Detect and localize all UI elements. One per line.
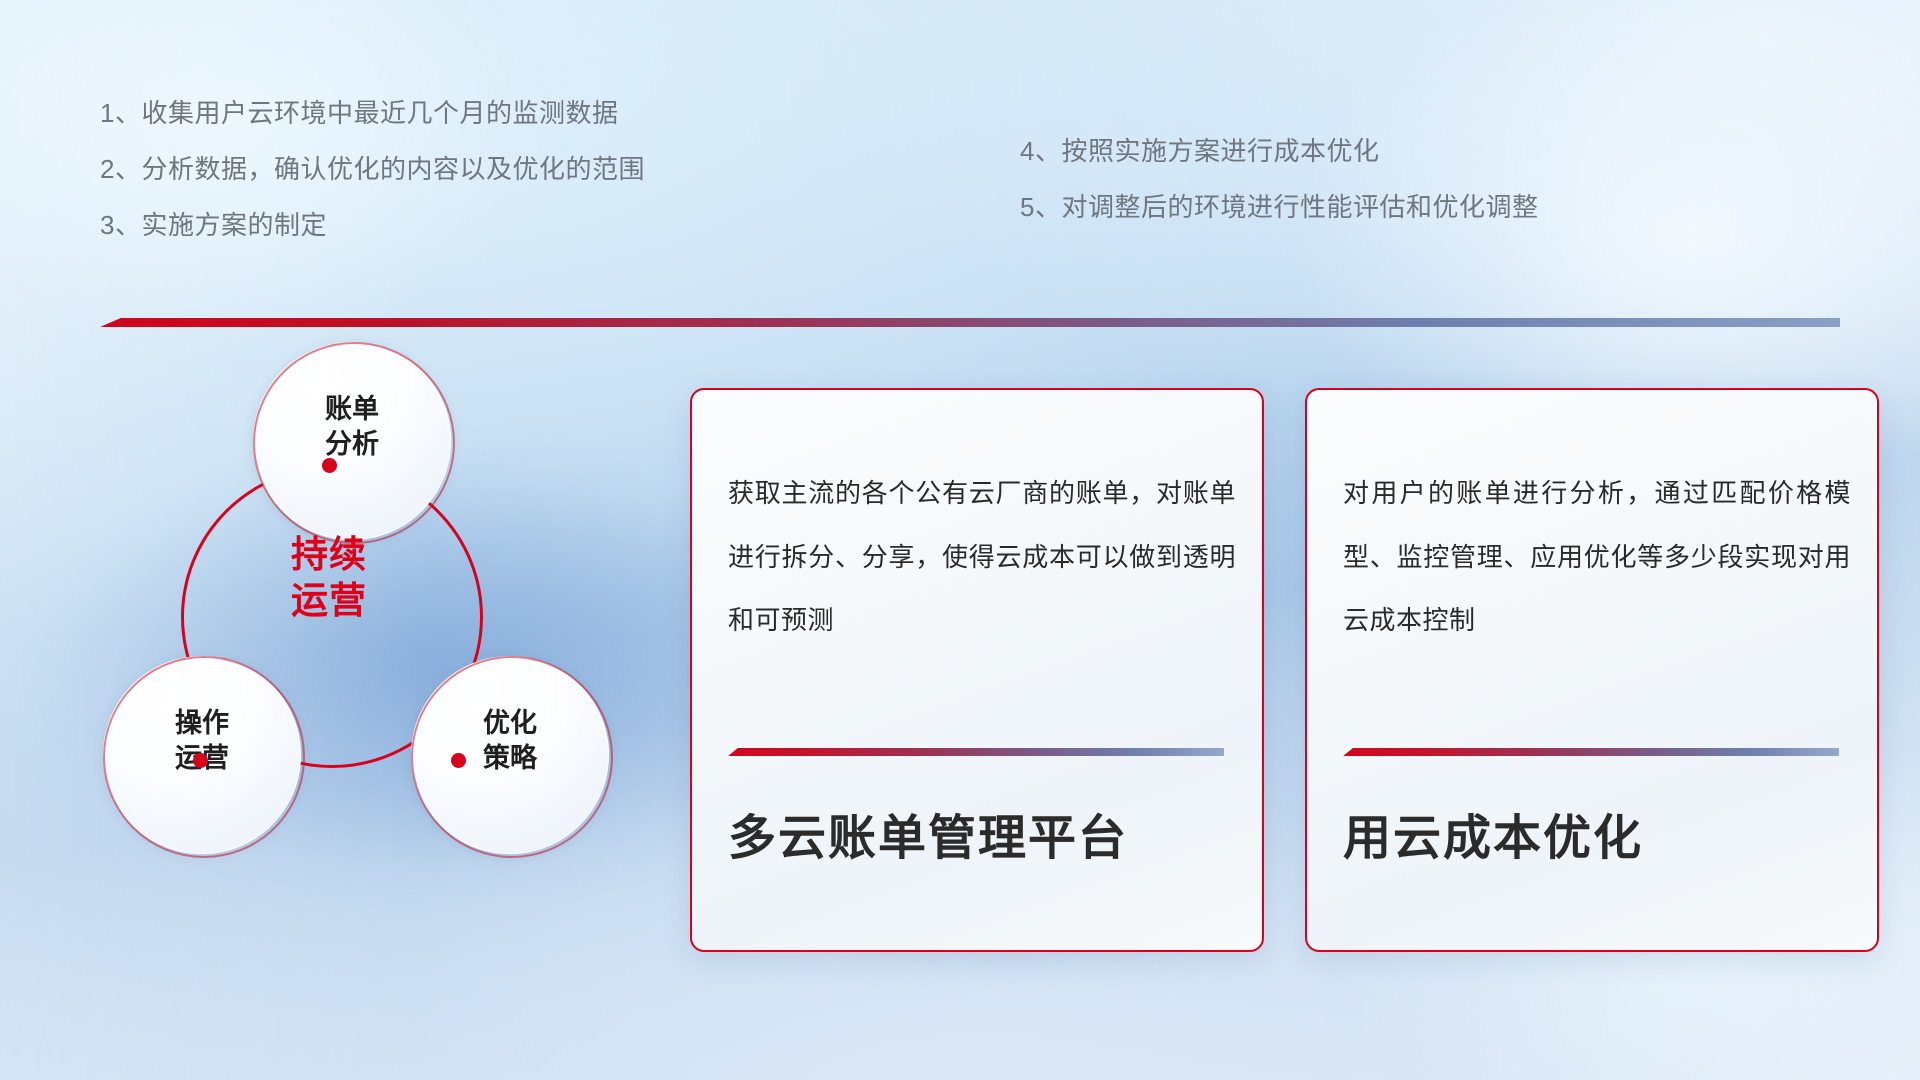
step-item-2: 2、分析数据，确认优化的内容以及优化的范围 xyxy=(100,156,920,182)
feature-card-body-2: 对用户的账单进行分析，通过匹配价格模型、监控管理、应用优化等多少段实现对用云成本… xyxy=(1343,462,1851,653)
venn-node-outline-billing xyxy=(253,342,455,544)
venn-connector-dot-top xyxy=(322,458,337,473)
feature-card-rule-2 xyxy=(1343,748,1839,756)
step-item-5: 5、对调整后的环境进行性能评估和优化调整 xyxy=(1020,194,1840,220)
steps-column-left: 1、收集用户云环境中最近几个月的监测数据 2、分析数据，确认优化的内容以及优化的… xyxy=(100,100,920,268)
step-item-1: 1、收集用户云环境中最近几个月的监测数据 xyxy=(100,100,920,126)
venn-center-label-line1: 持续 xyxy=(229,532,429,577)
feature-card-rule-1 xyxy=(728,748,1224,756)
venn-connector-dot-bottom-right xyxy=(451,753,466,768)
feature-card-cost-optimization[interactable]: 对用户的账单进行分析，通过匹配价格模型、监控管理、应用优化等多少段实现对用云成本… xyxy=(1305,388,1879,952)
feature-card-multicloud-billing[interactable]: 获取主流的各个公有云厂商的账单，对账单进行拆分、分享，使得云成本可以做到透明和可… xyxy=(690,388,1264,952)
venn-diagram: 账单 分析 操作 运营 优化 策略 持续 运营 xyxy=(95,350,635,950)
steps-section: 1、收集用户云环境中最近几个月的监测数据 2、分析数据，确认优化的内容以及优化的… xyxy=(100,100,1840,268)
feature-card-title-2: 用云成本优化 xyxy=(1343,798,1643,868)
header-divider-rule xyxy=(100,318,1840,327)
venn-node-outline-strategy xyxy=(411,656,613,858)
feature-card-body-1: 获取主流的各个公有云厂商的账单，对账单进行拆分、分享，使得云成本可以做到透明和可… xyxy=(728,462,1236,653)
step-item-4: 4、按照实施方案进行成本优化 xyxy=(1020,138,1840,164)
feature-card-title-1: 多云账单管理平台 xyxy=(728,798,1128,868)
venn-center-label-line2: 运营 xyxy=(229,578,429,623)
venn-connector-dot-bottom-left xyxy=(193,753,208,768)
steps-column-right: 4、按照实施方案进行成本优化 5、对调整后的环境进行性能评估和优化调整 xyxy=(920,100,1840,268)
step-item-3: 3、实施方案的制定 xyxy=(100,212,920,238)
